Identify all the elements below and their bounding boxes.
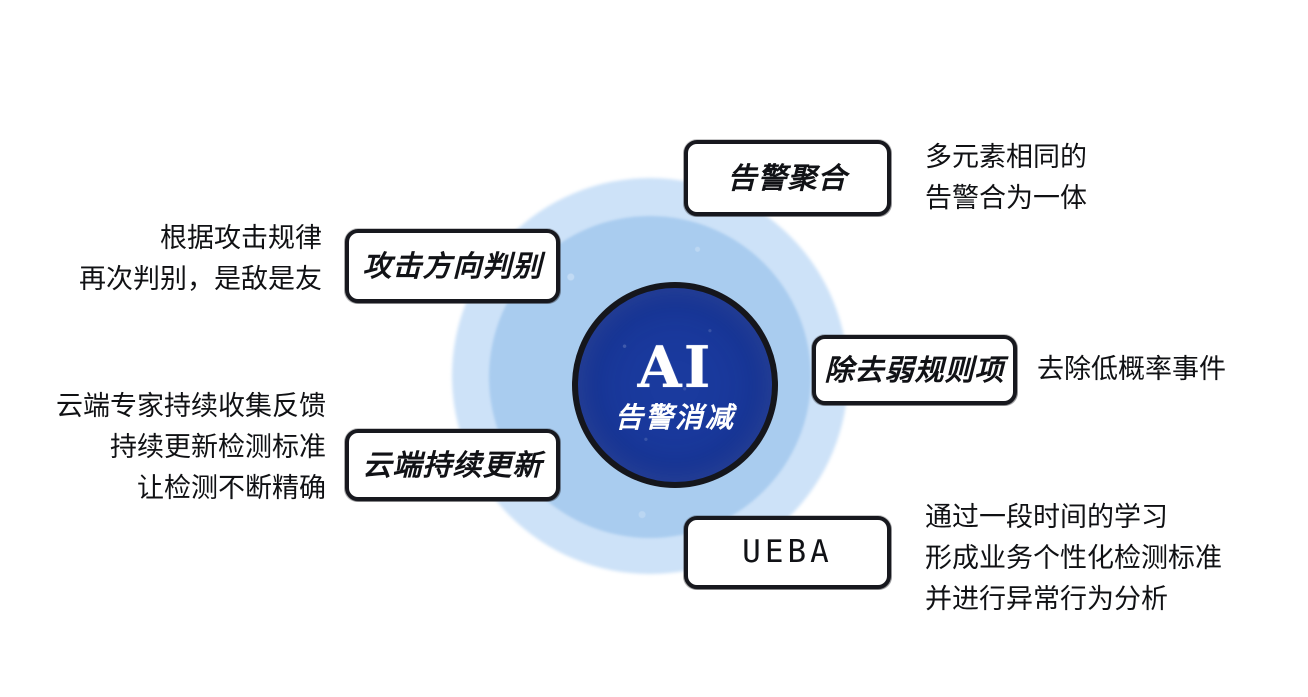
description-direction: 根据攻击规律 再次判别，是敌是友 bbox=[2, 218, 322, 300]
node-cloud[interactable]: 云端持续更新 bbox=[345, 429, 560, 501]
node-direction[interactable]: 攻击方向判别 bbox=[345, 229, 560, 303]
node-weakrule-label: 除去弱规则项 bbox=[824, 356, 1004, 385]
node-aggregate-label: 告警聚合 bbox=[727, 164, 847, 193]
node-aggregate[interactable]: 告警聚合 bbox=[684, 140, 891, 216]
center-node-ai: AI 告警消减 bbox=[572, 282, 778, 488]
center-subtitle: 告警消减 bbox=[615, 404, 735, 432]
node-ueba-label: UEBA bbox=[742, 537, 833, 568]
node-weakrule[interactable]: 除去弱规则项 bbox=[812, 335, 1017, 405]
center-title: AI bbox=[638, 339, 713, 396]
description-ueba: 通过一段时间的学习 形成业务个性化检测标准 并进行异常行为分析 bbox=[925, 497, 1300, 620]
description-cloud: 云端专家持续收集反馈 持续更新检测标准 让检测不断精确 bbox=[2, 386, 326, 509]
node-ueba[interactable]: UEBA bbox=[684, 516, 891, 589]
node-cloud-label: 云端持续更新 bbox=[362, 451, 542, 480]
description-weakrule: 去除低概率事件 bbox=[1037, 349, 1302, 390]
node-direction-label: 攻击方向判别 bbox=[362, 252, 542, 281]
description-aggregate: 多元素相同的 告警合为一体 bbox=[925, 137, 1255, 219]
diagram-canvas: AI 告警消减 告警聚合 攻击方向判别 除去弱规则项 云端持续更新 UEBA 多… bbox=[0, 0, 1308, 697]
